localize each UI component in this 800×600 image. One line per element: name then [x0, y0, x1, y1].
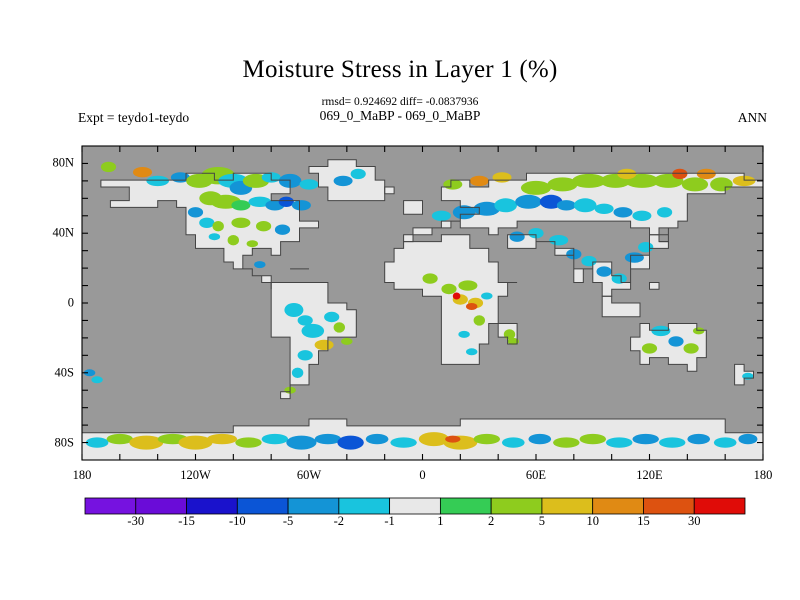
colorbar-tick-label: 2 — [471, 514, 511, 529]
anomaly-blob — [146, 176, 169, 186]
anomaly-blob — [207, 434, 237, 444]
anomaly-blob — [86, 437, 109, 447]
y-axis-tick-label: 80N — [28, 156, 74, 171]
colorbar-tick-label: 30 — [674, 514, 714, 529]
anomaly-blob — [470, 176, 489, 186]
anomaly-blob — [529, 434, 552, 444]
colorbar-cell — [136, 498, 187, 514]
anomaly-blob — [710, 177, 733, 191]
anomaly-blob — [298, 350, 313, 360]
x-axis-tick-label: 120E — [620, 468, 680, 483]
anomaly-blob — [682, 177, 708, 191]
colorbar-tick-label: 10 — [573, 514, 613, 529]
colorbar-tick-label: -5 — [268, 514, 308, 529]
anomaly-blob — [284, 303, 303, 317]
colorbar-cell — [288, 498, 339, 514]
colorbar-cell — [491, 498, 542, 514]
colorbar — [85, 498, 745, 514]
anomaly-blob — [659, 437, 685, 447]
anomaly-blob — [231, 200, 250, 210]
anomaly-blob — [633, 434, 659, 444]
anomaly-blob — [458, 280, 477, 290]
colorbar-cell — [593, 498, 644, 514]
anomaly-blob — [657, 207, 672, 217]
x-axis-tick-label: 60E — [506, 468, 566, 483]
colorbar-cell — [237, 498, 288, 514]
anomaly-blob — [668, 336, 683, 346]
x-axis-tick-label: 180 — [733, 468, 793, 483]
anomaly-blob — [298, 315, 313, 325]
anomaly-blob — [466, 303, 477, 310]
anomaly-blob — [292, 368, 303, 378]
anomaly-blob — [231, 218, 250, 228]
colorbar-cell — [694, 498, 745, 514]
colorbar-tick-label: -10 — [217, 514, 257, 529]
anomaly-blob — [334, 322, 345, 332]
figure-root: Moisture Stress in Layer 1 (%) rmsd= 0.9… — [0, 0, 800, 600]
anomaly-blob — [474, 434, 500, 444]
x-axis-tick-label: 180 — [52, 468, 112, 483]
colorbar-tick-label: -1 — [370, 514, 410, 529]
anomaly-blob — [445, 436, 460, 443]
anomaly-blob — [632, 211, 651, 221]
anomaly-blob — [254, 261, 265, 268]
anomaly-blob — [617, 169, 636, 179]
y-axis-tick-label: 40N — [28, 226, 74, 241]
land-polygon — [404, 201, 423, 215]
anomaly-blob — [423, 273, 438, 283]
anomaly-blob — [521, 181, 551, 195]
anomaly-blob — [315, 340, 334, 350]
anomaly-blob — [502, 437, 525, 447]
anomaly-blob — [441, 284, 456, 294]
anomaly-blob — [453, 293, 461, 300]
anomaly-blob — [432, 211, 451, 221]
anomaly-blob — [549, 235, 568, 245]
y-axis-tick-label: 40S — [28, 365, 74, 380]
anomaly-blob — [209, 233, 220, 240]
anomaly-blob — [574, 198, 597, 212]
anomaly-blob — [213, 221, 224, 231]
anomaly-blob — [738, 434, 757, 444]
anomaly-blob — [697, 169, 716, 179]
anomaly-blob — [300, 179, 319, 189]
colorbar-cell — [187, 498, 238, 514]
anomaly-blob — [494, 198, 517, 212]
colorbar-cell — [390, 498, 441, 514]
colorbar-tick-label: -15 — [167, 514, 207, 529]
anomaly-blob — [625, 252, 644, 262]
x-axis-tick-label: 60W — [279, 468, 339, 483]
anomaly-blob — [101, 162, 116, 172]
anomaly-blob — [341, 338, 352, 345]
anomaly-blob — [684, 343, 699, 353]
colorbar-cell — [85, 498, 136, 514]
anomaly-blob — [235, 437, 261, 447]
anomaly-blob — [606, 437, 632, 447]
colorbar-tick-label: 15 — [623, 514, 663, 529]
anomaly-blob — [474, 315, 485, 325]
anomaly-blob — [509, 232, 524, 242]
anomaly-blob — [315, 434, 341, 444]
x-axis-tick-label: 120W — [166, 468, 226, 483]
anomaly-blob — [351, 169, 366, 179]
x-axis-tick-label: 0 — [393, 468, 453, 483]
anomaly-blob — [107, 434, 133, 444]
anomaly-blob — [614, 207, 633, 217]
anomaly-blob — [262, 434, 288, 444]
anomaly-blob — [458, 331, 469, 338]
y-axis-tick-label: 80S — [28, 435, 74, 450]
anomaly-blob — [687, 434, 710, 444]
anomaly-blob — [481, 293, 492, 300]
anomaly-blob — [302, 324, 325, 338]
anomaly-blob — [553, 437, 579, 447]
y-axis-tick-label: 0 — [28, 296, 74, 311]
colorbar-tick-label: -2 — [319, 514, 359, 529]
anomaly-blob — [651, 326, 670, 336]
colorbar-tick-label: 5 — [522, 514, 562, 529]
anomaly-blob — [557, 200, 576, 210]
anomaly-blob — [337, 436, 363, 450]
anomaly-blob — [275, 225, 290, 235]
anomaly-blob — [714, 437, 737, 447]
anomaly-blob — [133, 167, 152, 177]
anomaly-blob — [581, 256, 596, 266]
anomaly-blob — [515, 195, 541, 209]
anomaly-blob — [672, 169, 687, 179]
anomaly-blob — [334, 176, 353, 186]
anomaly-blob — [638, 242, 653, 252]
anomaly-blob — [642, 343, 657, 353]
anomaly-blob — [595, 204, 614, 214]
anomaly-blob — [466, 348, 477, 355]
land-polygon — [650, 283, 660, 290]
anomaly-blob — [179, 436, 213, 450]
anomaly-blob — [256, 221, 271, 231]
anomaly-blob — [188, 207, 203, 217]
land-polygon — [385, 187, 394, 194]
anomaly-blob — [286, 436, 316, 450]
anomaly-blob — [493, 172, 512, 182]
anomaly-blob — [693, 327, 704, 334]
map-plot — [0, 0, 800, 600]
anomaly-blob — [597, 266, 612, 276]
anomaly-blob — [443, 179, 462, 189]
colorbar-tick-label: -30 — [116, 514, 156, 529]
colorbar-cell — [339, 498, 390, 514]
colorbar-tick-label: 1 — [420, 514, 460, 529]
anomaly-blob — [366, 434, 389, 444]
anomaly-blob — [324, 312, 339, 322]
colorbar-cell — [643, 498, 694, 514]
colorbar-cell — [440, 498, 491, 514]
anomaly-blob — [228, 235, 239, 245]
anomaly-blob — [199, 218, 214, 228]
anomaly-blob — [390, 437, 416, 447]
colorbar-cell — [542, 498, 593, 514]
anomaly-blob — [279, 197, 294, 207]
anomaly-blob — [247, 240, 258, 247]
anomaly-blob — [129, 436, 163, 450]
anomaly-blob — [91, 376, 102, 383]
anomaly-blob — [292, 200, 311, 210]
anomaly-blob — [580, 434, 606, 444]
